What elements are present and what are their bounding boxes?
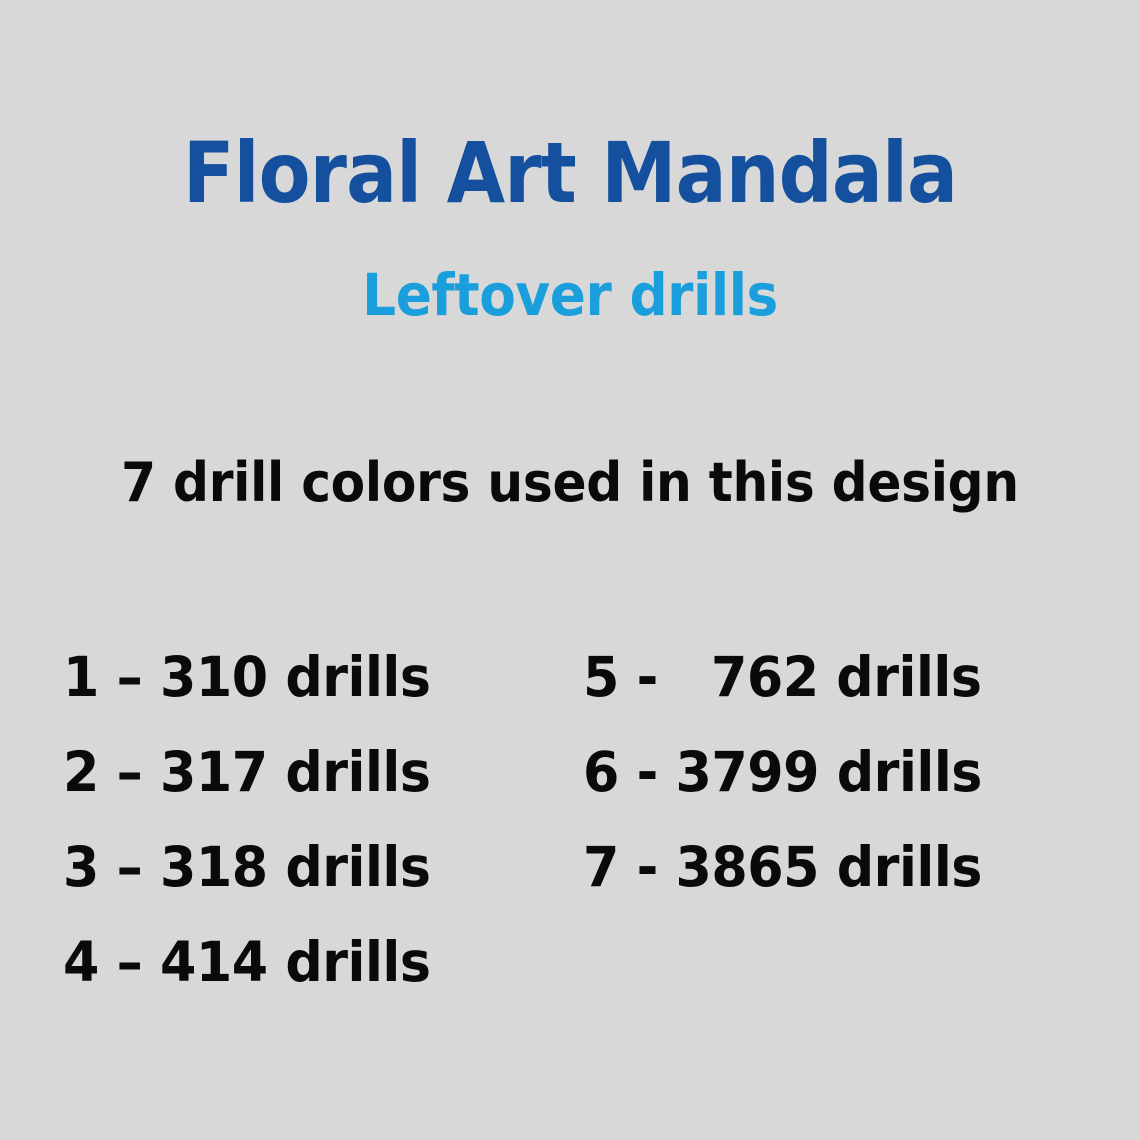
page-subtitle: Leftover drills	[46, 266, 1095, 324]
list-item: 6 - 3799 drills	[583, 725, 1058, 820]
list-item: 5 - 762 drills	[583, 630, 1058, 725]
poster-canvas: Floral Art Mandala Leftover drills 7 dri…	[0, 0, 1140, 1140]
list-item: 4 – 414 drills	[63, 915, 510, 1010]
drill-list-right-column: 5 - 762 drills 6 - 3799 drills 7 - 3865 …	[583, 630, 1083, 915]
page-title: Floral Art Mandala	[57, 131, 1083, 215]
drill-list: 1 – 310 drills 2 – 317 drills 3 – 318 dr…	[0, 630, 1140, 1050]
list-item: 7 - 3865 drills	[583, 820, 1058, 915]
list-item: 3 – 318 drills	[63, 820, 510, 915]
summary-headline: 7 drill colors used in this design	[40, 456, 1100, 510]
drill-list-left-column: 1 – 310 drills 2 – 317 drills 3 – 318 dr…	[63, 630, 533, 1010]
list-item: 2 – 317 drills	[63, 725, 510, 820]
list-item: 1 – 310 drills	[63, 630, 510, 725]
